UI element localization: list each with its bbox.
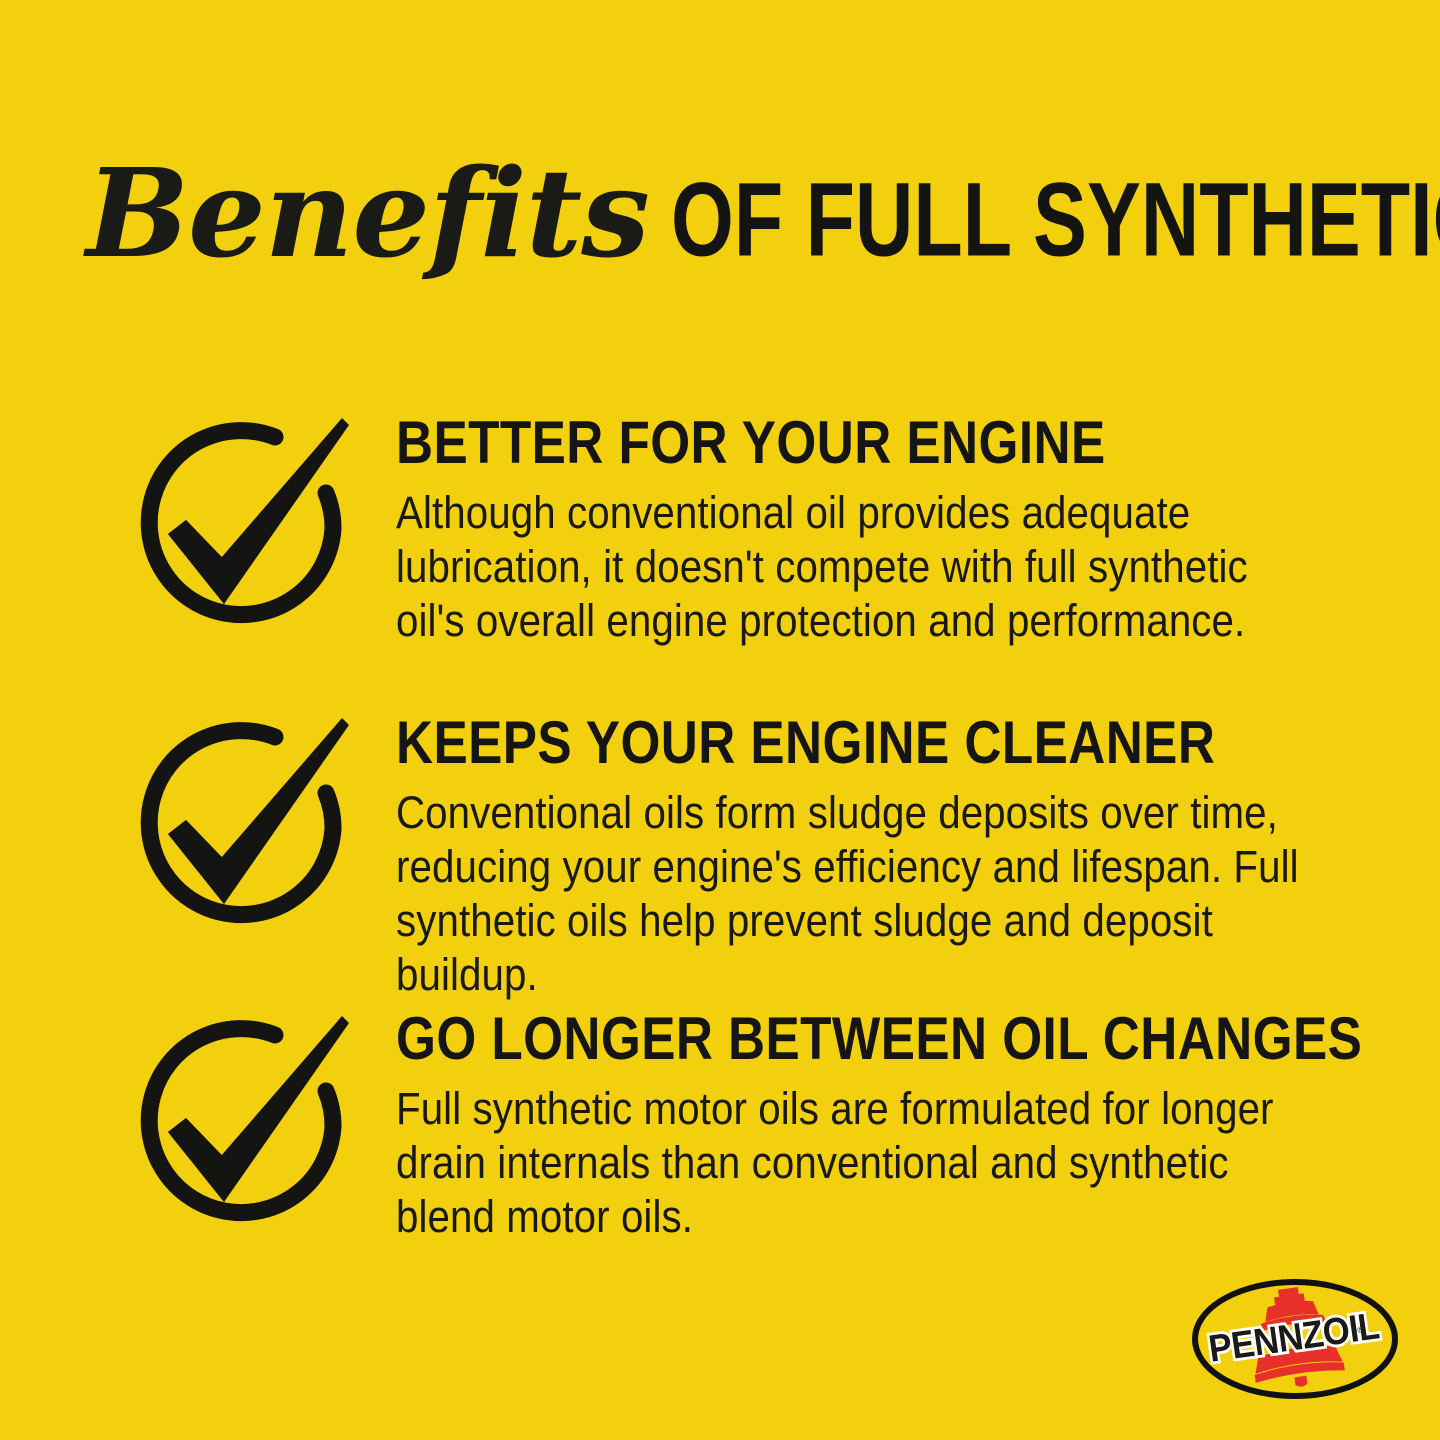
benefit-heading: GO LONGER BETWEEN OIL CHANGES [396,1010,1191,1068]
check-circle-icon [128,716,353,931]
benefit-item: BETTER FOR YOUR ENGINE Although conventi… [0,412,1440,662]
benefit-text-group: BETTER FOR YOUR ENGINE Although conventi… [396,414,1326,648]
benefit-item: KEEPS YOUR ENGINE CLEANER Conventional o… [0,712,1440,967]
benefit-text-group: KEEPS YOUR ENGINE CLEANER Conventional o… [396,714,1326,1002]
poster-canvas: Benefits OF FULL SYNTHETIC OIL BETTER FO… [0,0,1440,1440]
benefit-heading: BETTER FOR YOUR ENGINE [396,414,1191,472]
benefit-text-group: GO LONGER BETWEEN OIL CHANGES Full synth… [396,1010,1326,1244]
benefit-heading: KEEPS YOUR ENGINE CLEANER [396,714,1191,772]
benefit-item: GO LONGER BETWEEN OIL CHANGES Full synth… [0,1008,1440,1218]
check-circle-icon [128,1014,353,1229]
benefit-body: Although conventional oil provides adequ… [396,486,1322,648]
benefit-body: Full synthetic motor oils are formulated… [396,1082,1322,1244]
title-script-word: Benefits [86,152,649,274]
pennzoil-logo: PENNZOIL ® [1190,1276,1400,1402]
check-circle-icon [128,416,353,631]
benefit-body: Conventional oils form sludge deposits o… [396,786,1322,1002]
title-bold-words: OF FULL SYNTHETIC OIL [671,168,1440,273]
page-title: Benefits OF FULL SYNTHETIC OIL [86,152,1376,272]
